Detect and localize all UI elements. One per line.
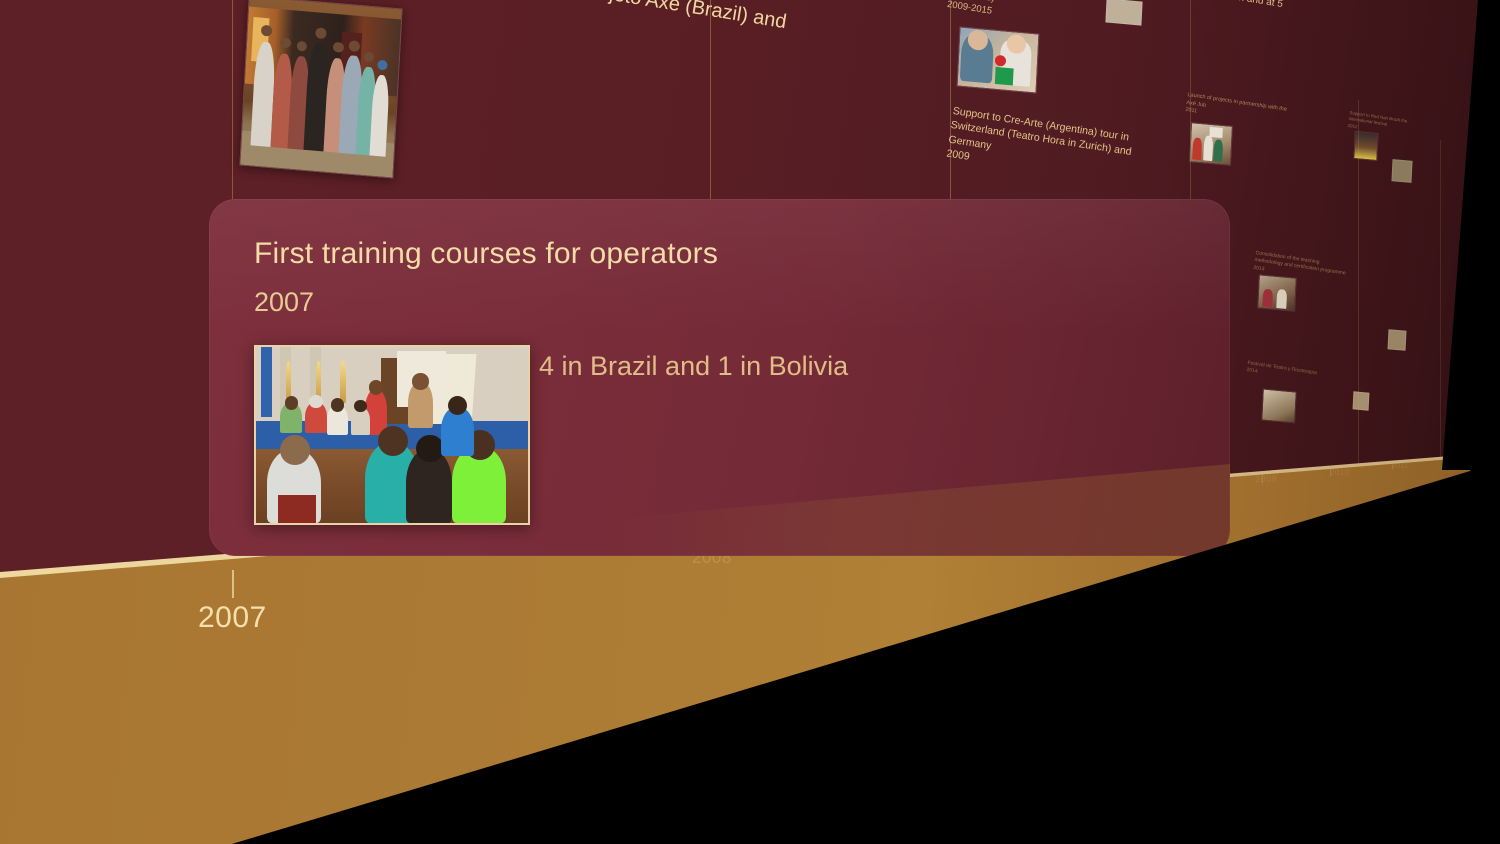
far-thumbnail-4 (1105, 0, 1142, 26)
far-thumbnail-1 (1391, 159, 1412, 183)
card-subtitle: 4 in Brazil and 1 in Bolivia (539, 351, 848, 382)
training-session-photo (1257, 274, 1297, 311)
presentation-stage[interactable]: ators: Projeto Axé (Brazil) and witzerla… (0, 0, 1500, 844)
timeline-year-2007[interactable]: 2007 (198, 601, 267, 635)
group-photo-outdoors (239, 0, 402, 179)
focused-timeline-card[interactable]: First training courses for operators 200… (209, 199, 1230, 556)
zooming-canvas[interactable]: ators: Projeto Axé (Brazil) and witzerla… (0, 0, 1500, 844)
workshop-group-photo (1189, 122, 1233, 166)
card-title: First training courses for operators (254, 237, 718, 271)
connector-2011 (1358, 100, 1359, 472)
card-year: 2007 (254, 287, 314, 318)
clown-doctor-with-child-photo (957, 26, 1040, 93)
connector-2012 (1440, 140, 1441, 460)
timeline-year-2011[interactable]: 2011 (1392, 463, 1409, 470)
event-photo (1261, 388, 1297, 423)
far-thumbnail-3 (1353, 391, 1370, 410)
timeline-year-2010[interactable]: 2010 (1330, 468, 1350, 477)
timeline-year-2009[interactable]: 2009 (1255, 474, 1277, 484)
timeline-tick-2007 (232, 570, 234, 598)
far-thumbnail-2 (1388, 329, 1407, 351)
training-workshop-photo (254, 345, 530, 525)
